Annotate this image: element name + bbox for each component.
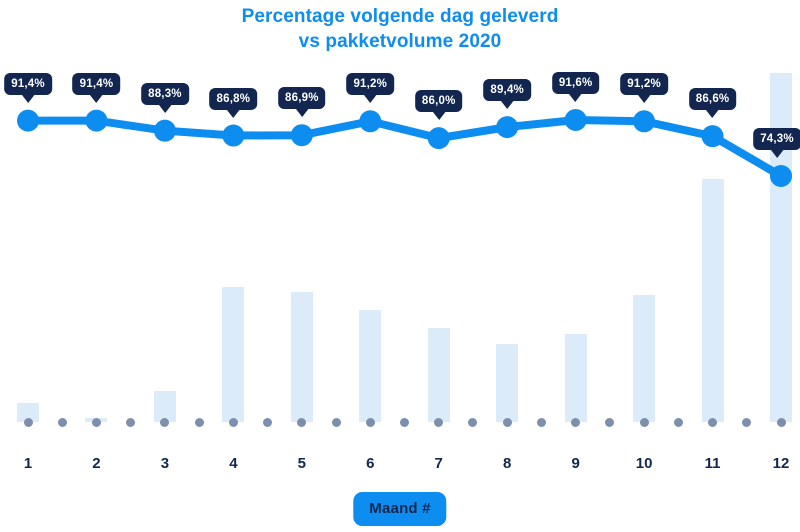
x-tick-7: 7 — [435, 455, 443, 472]
x-tick-11: 11 — [705, 455, 721, 472]
data-label-month-4: 86,8% — [210, 88, 258, 110]
data-point-month-11[interactable] — [702, 125, 724, 147]
chart-container: Percentage volgende dag geleverd vs pakk… — [0, 0, 800, 532]
data-point-month-2[interactable] — [85, 110, 107, 132]
x-tick-4: 4 — [229, 455, 237, 472]
x-tick-12: 12 — [773, 455, 790, 472]
data-label-month-10: 91,2% — [620, 73, 668, 95]
line-series-percentage — [0, 0, 800, 470]
data-label-month-1: 91,4% — [4, 73, 52, 95]
data-label-month-8: 89,4% — [483, 79, 531, 101]
line-path — [28, 120, 781, 176]
data-point-month-3[interactable] — [154, 120, 176, 142]
data-point-month-1[interactable] — [17, 110, 39, 132]
x-tick-3: 3 — [161, 455, 169, 472]
data-label-month-7: 86,0% — [415, 90, 463, 112]
x-axis-title-badge: Maand # — [353, 492, 446, 526]
data-label-month-12: 74,3% — [753, 128, 800, 150]
data-label-month-9: 91,6% — [552, 72, 600, 94]
data-point-month-5[interactable] — [291, 124, 313, 146]
data-label-month-11: 86,6% — [689, 88, 737, 110]
data-point-month-12[interactable] — [770, 165, 792, 187]
data-point-month-6[interactable] — [359, 110, 381, 132]
x-tick-6: 6 — [366, 455, 374, 472]
data-point-month-9[interactable] — [565, 109, 587, 131]
data-label-month-3: 88,3% — [141, 83, 189, 105]
x-tick-1: 1 — [24, 455, 32, 472]
data-point-month-8[interactable] — [496, 116, 518, 138]
data-point-month-10[interactable] — [633, 110, 655, 132]
data-point-month-7[interactable] — [428, 127, 450, 149]
data-label-month-5: 86,9% — [278, 87, 326, 109]
x-tick-2: 2 — [92, 455, 100, 472]
data-point-month-4[interactable] — [222, 125, 244, 147]
data-label-month-2: 91,4% — [73, 73, 121, 95]
x-tick-10: 10 — [636, 455, 653, 472]
x-tick-8: 8 — [503, 455, 511, 472]
data-label-month-6: 91,2% — [346, 73, 394, 95]
x-tick-5: 5 — [298, 455, 306, 472]
plot-area: 91,4%91,4%88,3%86,8%86,9%91,2%86,0%89,4%… — [0, 0, 800, 470]
x-tick-9: 9 — [571, 455, 579, 472]
